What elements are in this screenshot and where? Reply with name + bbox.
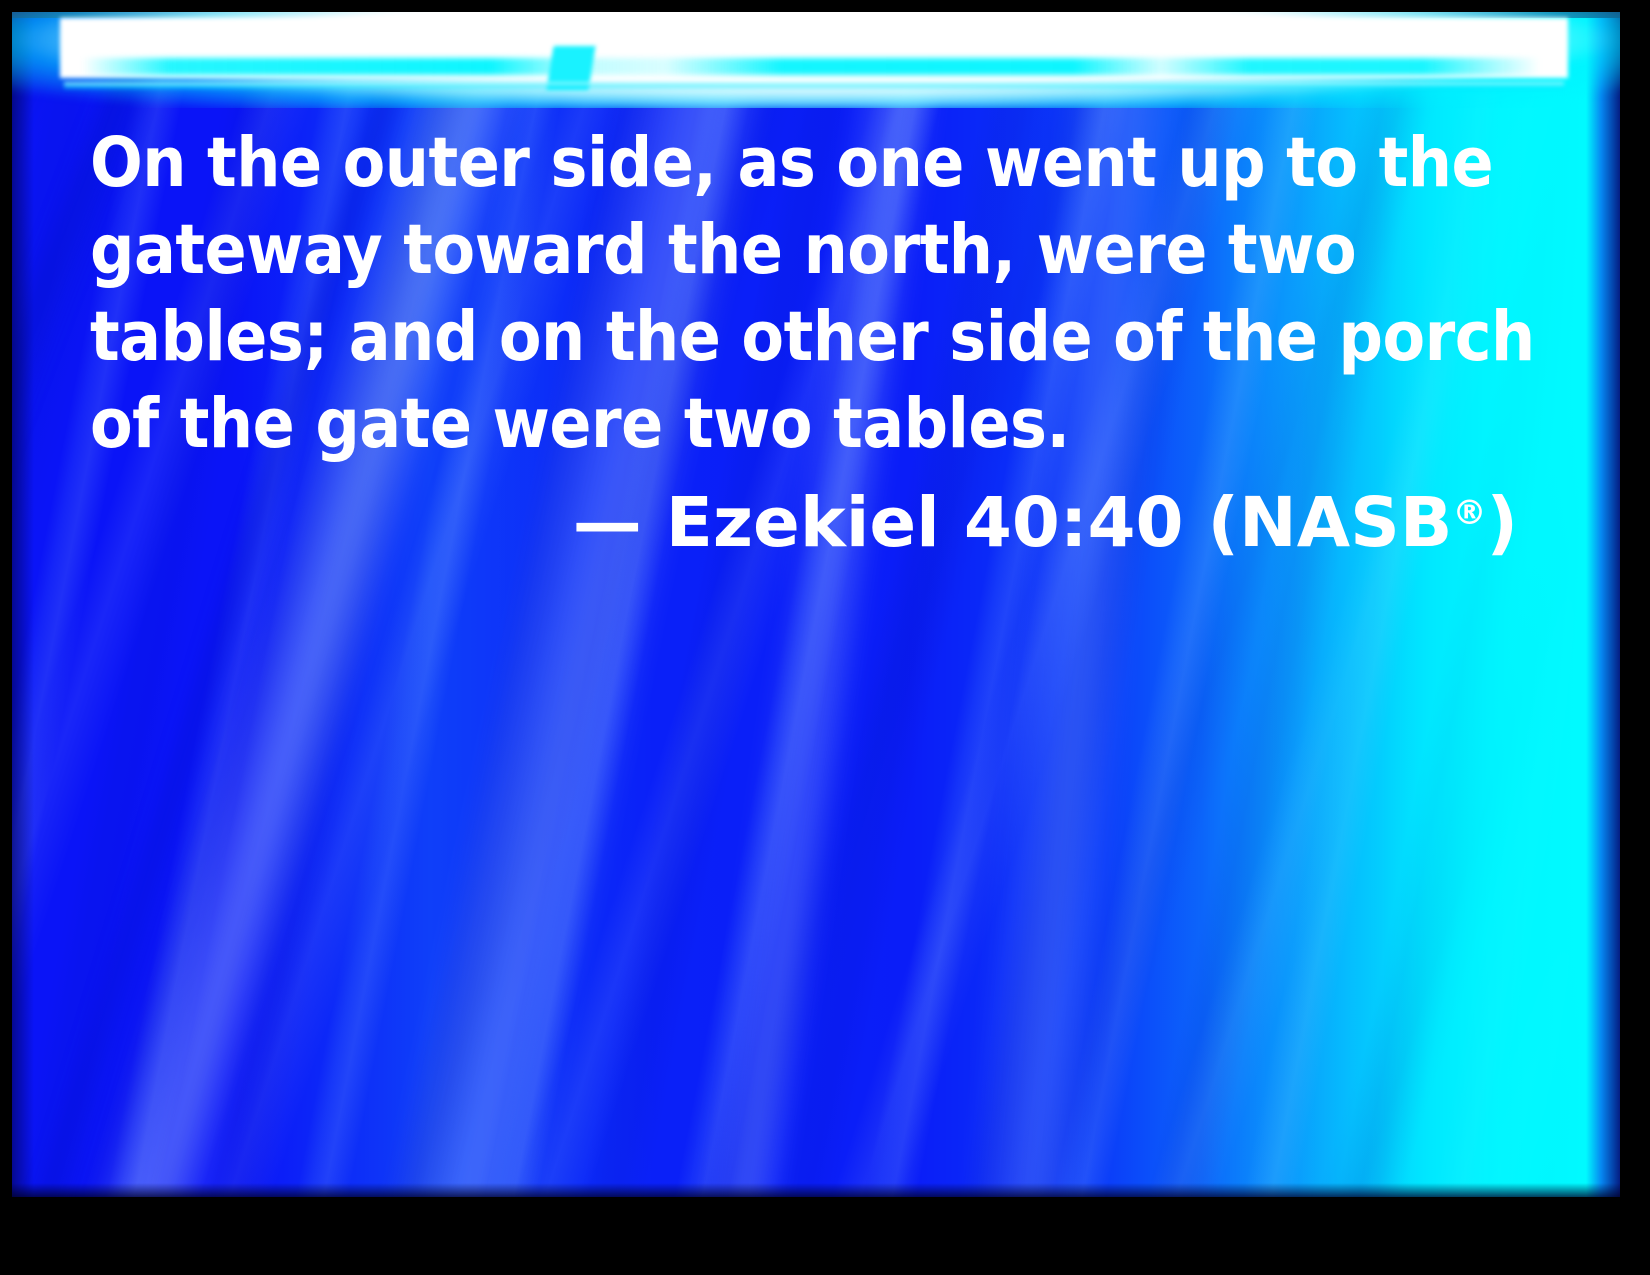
verse-line-4: of the gate were two tables. (90, 381, 1560, 468)
left-edge-shadow (12, 12, 34, 1197)
right-edge-shadow (1586, 12, 1620, 1197)
slide-stage: On the outer side, as one went up to the… (12, 12, 1620, 1197)
verse-attribution: — Ezekiel 40:40 (NASB®) (90, 468, 1560, 567)
verse-line-2: gateway toward the north, were two (90, 207, 1560, 294)
verse-text-block: On the outer side, as one went up to the… (90, 120, 1560, 567)
bottom-edge-shadow (12, 1183, 1620, 1197)
attribution-prefix: — Ezekiel 40:40 (NASB (573, 483, 1453, 563)
top-band-cyan-streak (82, 58, 1540, 75)
top-glow-band (12, 12, 1620, 108)
verse-line-3: tables; and on the other side of the por… (90, 294, 1560, 381)
verse-slide: On the outer side, as one went up to the… (0, 0, 1650, 1275)
top-band-bottom-edge (64, 82, 1564, 90)
registered-trademark-icon: ® (1452, 493, 1486, 533)
attribution-suffix: ) (1486, 483, 1518, 563)
verse-line-1: On the outer side, as one went up to the (90, 120, 1560, 207)
